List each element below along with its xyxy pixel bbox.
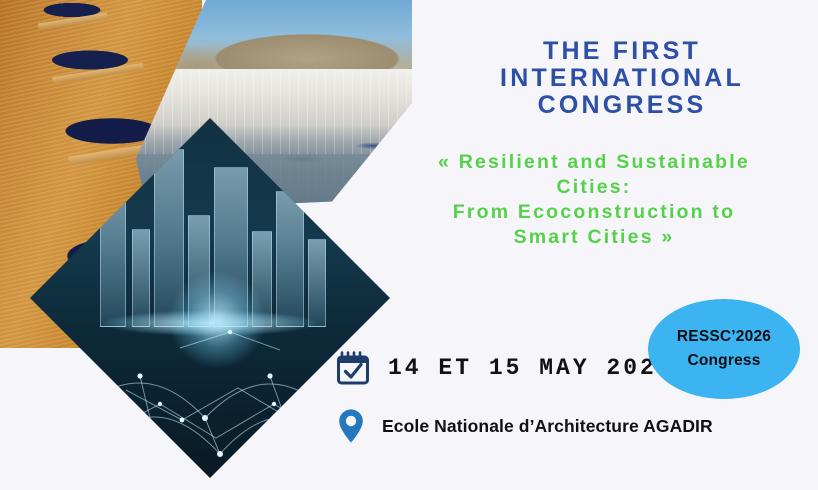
subtitle-line-4: Smart Cities » <box>370 225 818 250</box>
date-row: 14 ET 15 MAY 2026 <box>336 350 674 386</box>
subtitle-line-2: Cities: <box>370 175 818 200</box>
title-line-1: THE FIRST <box>543 37 701 65</box>
congress-theme: « Resilient and Sustainable Cities: From… <box>370 150 818 250</box>
subtitle-line-3: From Ecoconstruction to <box>370 200 818 225</box>
congress-poster: THE FIRST INTERNATIONAL CONGRESS « Resil… <box>0 0 818 490</box>
facade-slab <box>38 13 108 31</box>
congress-date: 14 ET 15 MAY 2026 <box>388 355 674 381</box>
venue-row: Ecole Nationale d’Architecture AGADIR <box>336 407 713 445</box>
page-title: THE FIRST INTERNATIONAL CONGRESS <box>436 38 808 119</box>
status-badge: RESSC’2026 Congress <box>648 299 800 399</box>
title-line-3: CONGRESS <box>538 91 707 119</box>
map-pin-icon <box>336 407 366 445</box>
facade-slab <box>52 63 144 84</box>
calendar-check-icon <box>336 350 370 386</box>
congress-venue: Ecole Nationale d’Architecture AGADIR <box>382 416 713 437</box>
subtitle-line-1: « Resilient and Sustainable <box>370 150 818 175</box>
title-line-2: INTERNATIONAL <box>500 64 744 92</box>
badge-line-2: Congress <box>687 352 760 370</box>
badge-line-1: RESSC’2026 <box>677 328 771 346</box>
